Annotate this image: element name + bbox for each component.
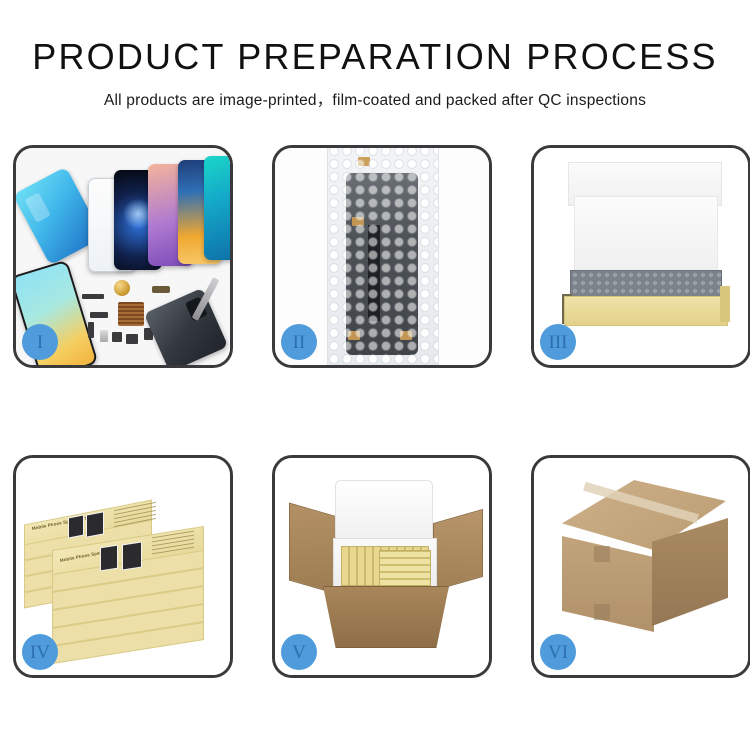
process-step-card-2[interactable]: II [272, 145, 492, 368]
box-art-screen-b1 [100, 545, 118, 572]
box-art-screen-a2 [86, 511, 104, 537]
foam-cooler-lid [335, 480, 433, 542]
carton-front-panel [323, 586, 449, 648]
product-preparation-infographic: PRODUCT PREPARATION PROCESS All products… [0, 0, 750, 750]
process-step-card-1[interactable]: I [13, 145, 233, 368]
flex-cable-part-a [152, 286, 170, 293]
process-step-grid: I II [13, 145, 737, 678]
tape-bottom-left [348, 331, 360, 340]
tape-top [358, 157, 370, 166]
screen-flex-cable [368, 225, 380, 321]
process-step-card-3[interactable]: III [531, 145, 750, 368]
carton-flap-right [433, 509, 483, 591]
page-title: PRODUCT PREPARATION PROCESS [0, 38, 750, 77]
inner-box-front-kraft [564, 296, 728, 326]
inner-box-side-kraft [720, 286, 730, 322]
step-badge-1: I [22, 324, 58, 360]
lcd-screen-assembly [346, 173, 418, 355]
speaker-coil-part [114, 280, 130, 296]
bracket-part-b [88, 322, 94, 338]
step-badge-2: II [281, 324, 317, 360]
process-step-card-6[interactable]: VI [531, 455, 750, 678]
sim-tray-part [100, 330, 108, 342]
yellow-boxes-row-b [379, 550, 431, 586]
antenna-strip-part [82, 294, 104, 299]
tape-middle [352, 217, 364, 226]
step-badge-6: VI [540, 634, 576, 670]
phone-screen-teal [204, 156, 230, 260]
vibrator-part [112, 332, 122, 342]
carton-seam-upper [594, 546, 610, 562]
bubble-wrap-bag [327, 148, 439, 365]
process-step-card-4[interactable]: Mobile Phone Spare Parts Mobile Phone Sp… [13, 455, 233, 678]
box-art-screen-b2 [122, 541, 142, 570]
logic-board-part [118, 302, 144, 326]
step-badge-5: V [281, 634, 317, 670]
tape-bottom-right [400, 331, 412, 340]
step-badge-4: IV [22, 634, 58, 670]
process-step-card-5[interactable]: V [272, 455, 492, 678]
white-foam-sheet [574, 196, 718, 276]
camera-module-part [126, 334, 138, 344]
step-badge-3: III [540, 324, 576, 360]
carton-seam-lower [594, 604, 610, 620]
header: PRODUCT PREPARATION PROCESS All products… [0, 0, 750, 110]
bracket-part-a [90, 312, 108, 318]
page-subtitle: All products are image-printed，film-coat… [0, 88, 750, 110]
box-art-screen-a1 [68, 514, 84, 538]
